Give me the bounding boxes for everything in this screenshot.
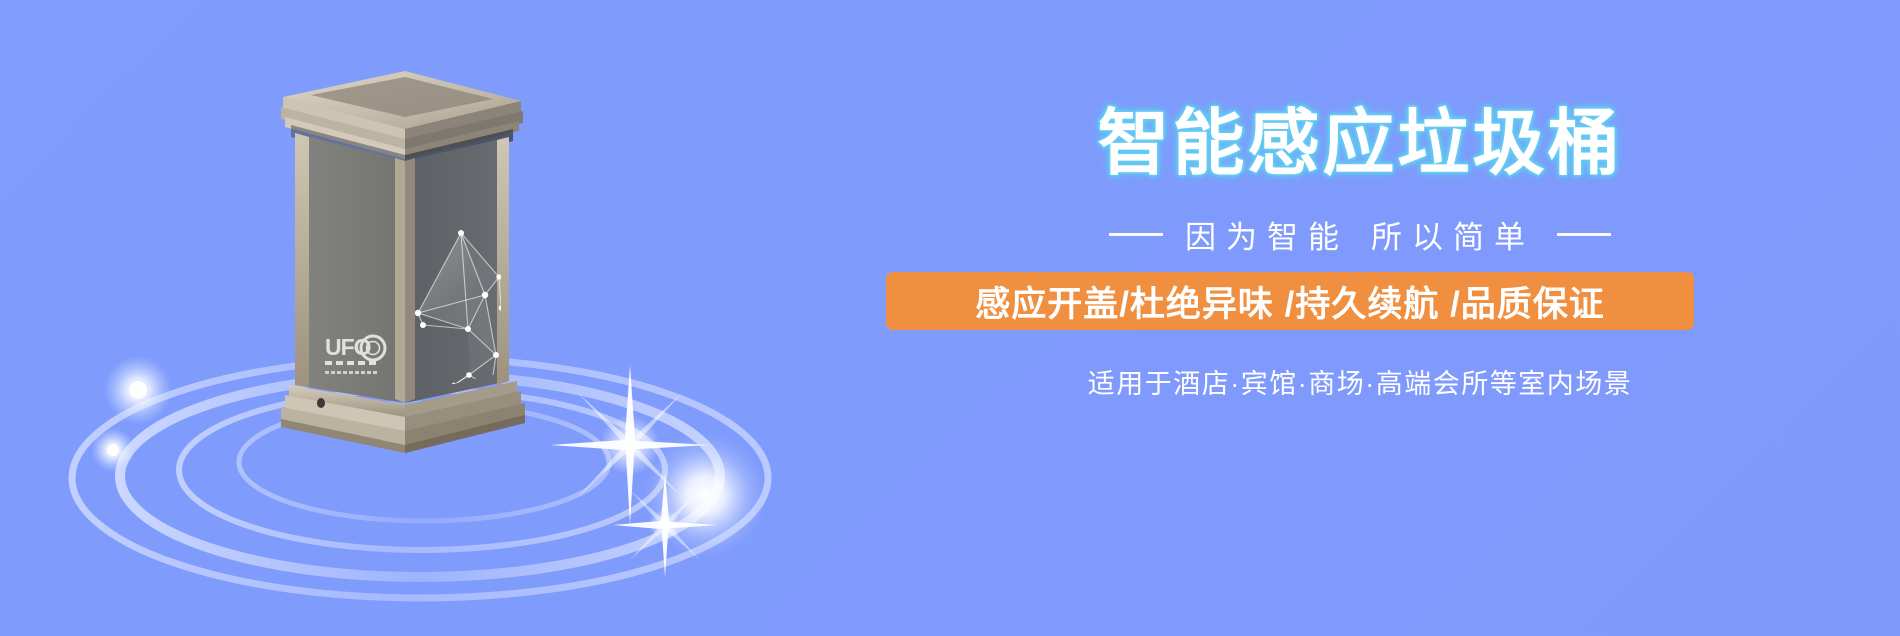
subline-rule-left	[1109, 233, 1163, 236]
product-promo-banner: UFO	[0, 0, 1900, 636]
subline-text-left: 因为智能	[1185, 212, 1349, 257]
product-stage: UFO	[0, 0, 860, 636]
subline-rule-right	[1557, 233, 1611, 236]
feature-bar-text: 感应开盖/杜绝异味 /持久续航 /品质保证	[975, 276, 1605, 327]
copy-block: 智能感应垃圾桶 因为智能 所以简单 感应开盖/杜绝异味 /持久续航 /品质保证 …	[860, 0, 1900, 636]
subline-text-right: 所以简单	[1371, 212, 1535, 257]
feature-bar: 感应开盖/杜绝异味 /持久续航 /品质保证	[886, 272, 1694, 330]
product-image-trash-bin: UFO	[255, 55, 555, 455]
subline: 因为智能 所以简单	[860, 212, 1860, 257]
scenes-text: 适用于酒店·宾馆·商场·高端会所等室内场景	[860, 362, 1860, 401]
headline: 智能感应垃圾桶	[860, 108, 1860, 180]
